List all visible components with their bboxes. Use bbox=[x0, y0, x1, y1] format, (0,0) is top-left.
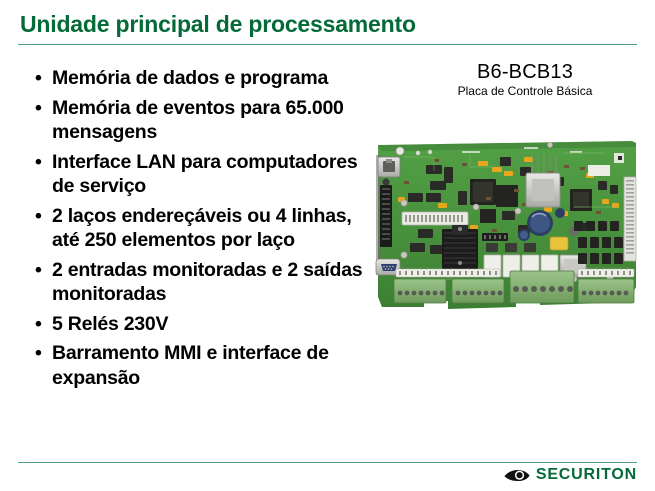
list-item-label: 2 entradas monitoradas e 2 saídas monito… bbox=[52, 259, 362, 306]
circuit-board-image bbox=[374, 137, 650, 312]
eye-icon bbox=[504, 468, 530, 482]
feature-bullet-list: • Memória de dados e programa • Memória … bbox=[30, 66, 370, 395]
list-item-label: 5 Relés 230V bbox=[52, 313, 168, 335]
footer-divider bbox=[18, 462, 637, 463]
list-item-label: Barramento MMI e interface de expansão bbox=[52, 342, 329, 389]
list-item-label: Memória de eventos para 65.000 mensagens bbox=[52, 97, 344, 144]
bullet-marker-icon: • bbox=[35, 312, 42, 337]
board-subtitle-label: Placa de Controle Básica bbox=[400, 84, 650, 99]
brand-logo: SECURITON bbox=[504, 466, 637, 484]
board-model-label: B6-BCB13 bbox=[400, 60, 650, 84]
list-item-label: 2 laços endereçáveis ou 4 linhas, até 25… bbox=[52, 205, 352, 252]
bullet-marker-icon: • bbox=[35, 96, 42, 121]
list-item-label: Memória de dados e programa bbox=[52, 67, 328, 89]
bullet-marker-icon: • bbox=[35, 258, 42, 283]
bullet-marker-icon: • bbox=[35, 341, 42, 366]
list-item: • 2 entradas monitoradas e 2 saídas moni… bbox=[30, 258, 370, 307]
bullet-marker-icon: • bbox=[35, 150, 42, 175]
bullet-marker-icon: • bbox=[35, 204, 42, 229]
page-title: Unidade principal de processamento bbox=[20, 11, 416, 38]
list-item: • 2 laços endereçáveis ou 4 linhas, até … bbox=[30, 204, 370, 253]
title-divider bbox=[18, 44, 637, 45]
bullet-marker-icon: • bbox=[35, 66, 42, 91]
list-item-label: Interface LAN para computadores de servi… bbox=[52, 151, 357, 198]
slide-canvas: Unidade principal de processamento • Mem… bbox=[0, 0, 655, 491]
list-item: • Interface LAN para computadores de ser… bbox=[30, 150, 370, 199]
list-item: • Memória de dados e programa bbox=[30, 66, 370, 91]
list-item: • Memória de eventos para 65.000 mensage… bbox=[30, 96, 370, 145]
board-caption: B6-BCB13 Placa de Controle Básica bbox=[400, 60, 650, 99]
list-item: • 5 Relés 230V bbox=[30, 312, 370, 337]
brand-name: SECURITON bbox=[536, 466, 637, 484]
list-item: • Barramento MMI e interface de expansão bbox=[30, 341, 370, 390]
